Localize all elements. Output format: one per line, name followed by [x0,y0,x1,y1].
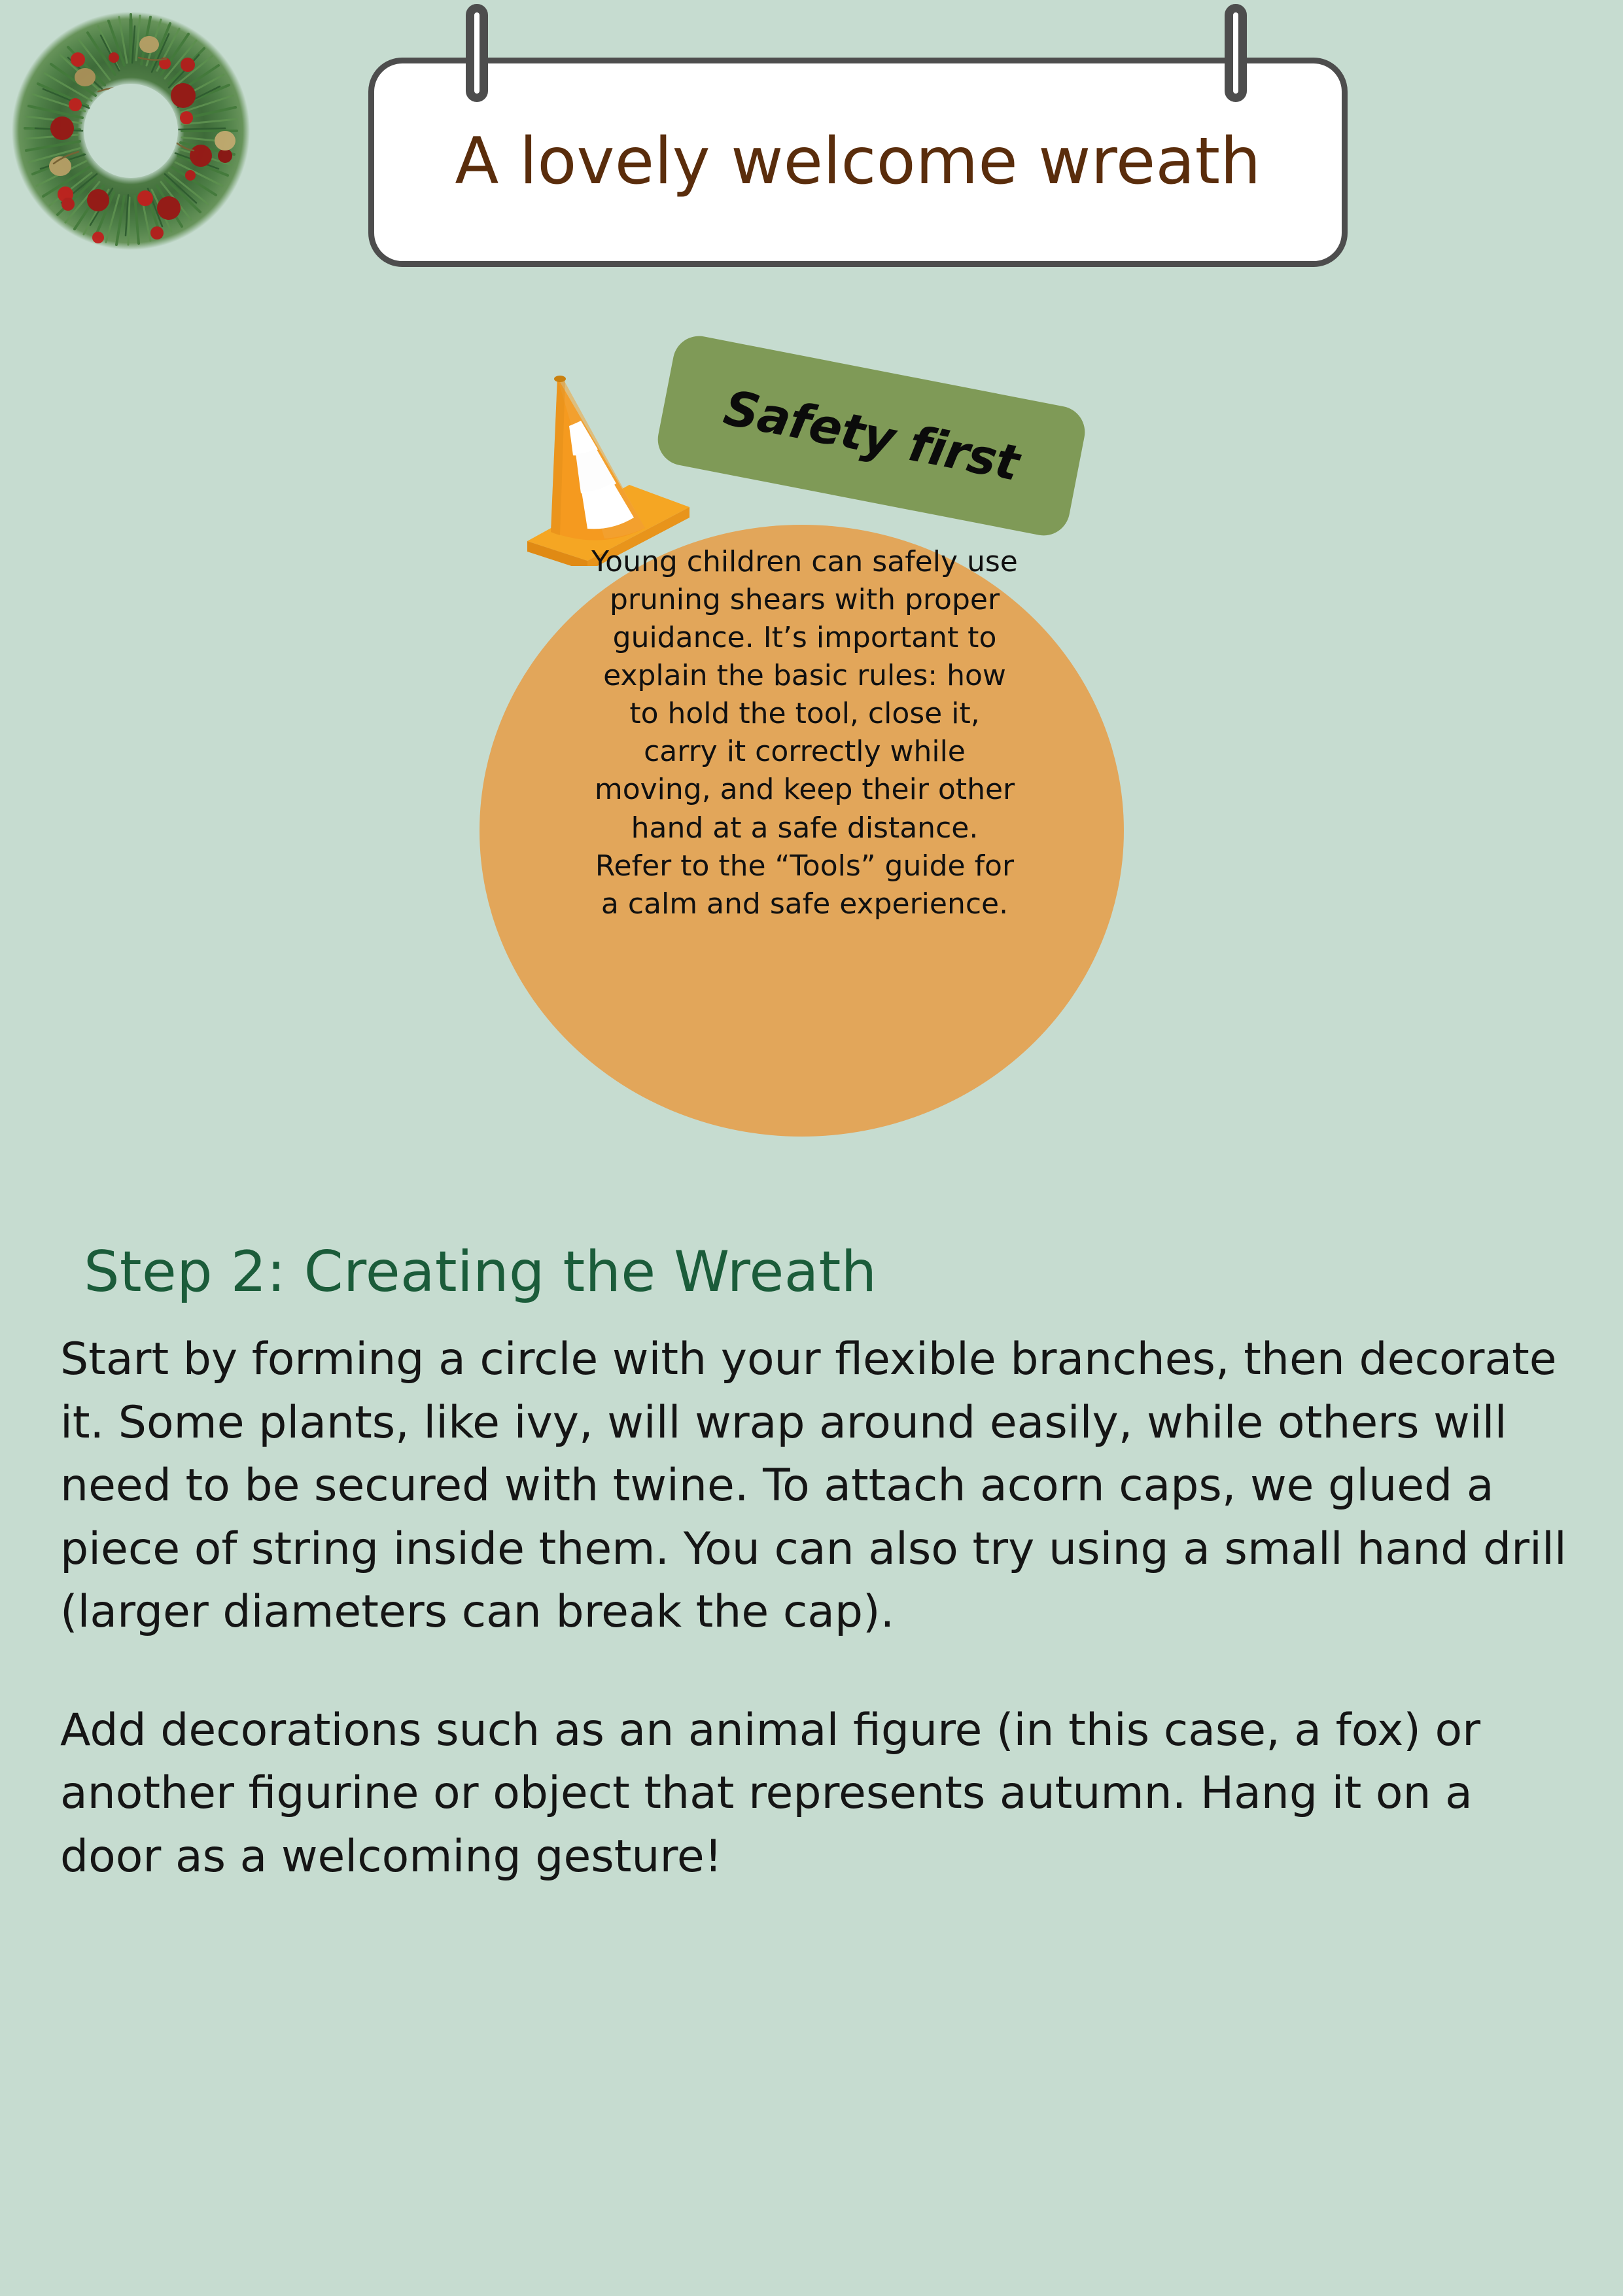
step-body: Start by forming a circle with your flex… [60,1328,1571,1888]
step-heading: Step 2: Creating the Wreath [84,1239,1523,1305]
safety-body-text: Young children can safely use pruning sh… [589,543,1021,923]
traffic-cone-icon [517,370,700,566]
page-title: A lovely welcome wreath [428,120,1287,204]
sign-hook-right [1225,4,1247,102]
safety-first-label: Safety first [720,380,1023,492]
safety-callout: Safety first Young children can safely u… [0,353,1623,1171]
wreath-image [0,0,262,262]
body-paragraph-1: Start by forming a circle with your flex… [60,1328,1571,1644]
body-paragraph-2: Add decorations such as an animal figure… [60,1699,1571,1889]
welcome-sign-board: A lovely welcome wreath [368,58,1348,267]
safety-first-banner: Safety first [654,332,1089,540]
sign-hook-left [466,4,488,102]
